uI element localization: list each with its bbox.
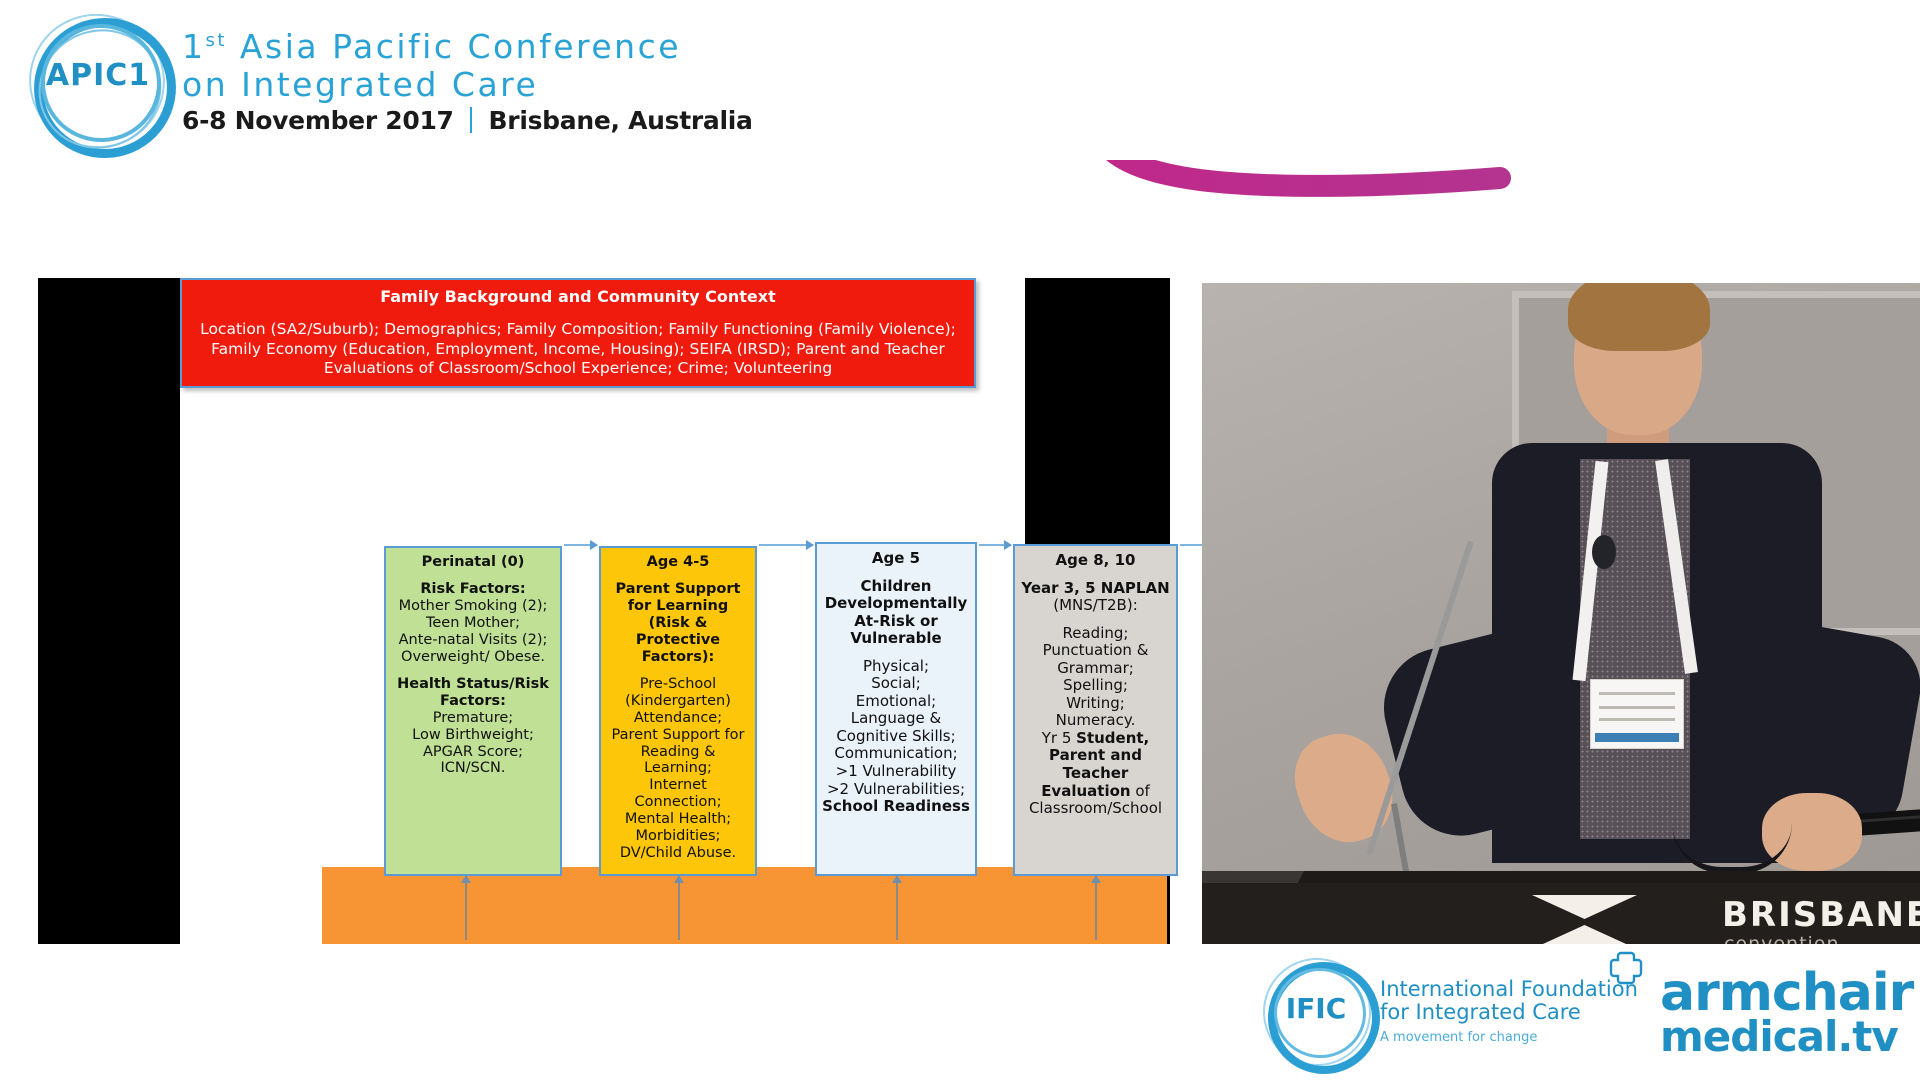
arrow-context-to-yellow bbox=[678, 882, 680, 940]
slide-orange-band bbox=[322, 867, 1167, 944]
conference-header: APIC1 1st Asia Pacific Conference on Int… bbox=[0, 0, 1920, 160]
microphone-head bbox=[1592, 535, 1616, 569]
box-green-subheading-1: Risk Factors: bbox=[391, 581, 555, 598]
ordinal-number: 1 bbox=[182, 27, 206, 66]
box-grey-body-2: Yr 5 Student, Parent and Teacher Evaluat… bbox=[1020, 730, 1171, 818]
ific-tagline: A movement for change bbox=[1380, 1030, 1537, 1045]
box-green-subheading-2: Health Status/Risk Factors: bbox=[391, 676, 555, 710]
podium-brand-text: BRISBANE bbox=[1722, 895, 1920, 935]
box-grey-body-2-prefix: Yr 5 bbox=[1042, 729, 1076, 747]
conference-location: Brisbane, Australia bbox=[489, 106, 753, 135]
box-grey-subheading-1: Year 3, 5 NAPLAN bbox=[1020, 580, 1171, 598]
box-grey-body-1: Reading;Punctuation &Grammar;Spelling;Wr… bbox=[1020, 625, 1171, 730]
armchair-line1: armchair bbox=[1660, 970, 1913, 1016]
box-green-body-2: Premature;Low Birthweight;APGAR Score;IC… bbox=[391, 710, 555, 778]
ific-logo: IFIC International Foundation for Integr… bbox=[1258, 956, 1568, 1066]
armchair-line2: medical.tv bbox=[1660, 1016, 1898, 1058]
apic-logo-text: APIC1 bbox=[28, 58, 168, 93]
badge-line-2 bbox=[1599, 706, 1675, 709]
conference-dates: 6-8 November 2017 bbox=[182, 106, 454, 135]
logo-shape-bottom bbox=[1532, 925, 1637, 944]
badge-blue-bar bbox=[1595, 733, 1679, 742]
badge-line-1 bbox=[1599, 692, 1675, 695]
box-blue-subheading-1: Children Developmentally At-Risk or Vuln… bbox=[822, 578, 970, 648]
box-grey-heading: Age 8, 10 bbox=[1020, 552, 1171, 570]
context-box-heading: Family Background and Community Context bbox=[182, 287, 974, 306]
speaker-video[interactable]: BRISBANE convention bbox=[1202, 283, 1920, 944]
apic-logo: APIC1 bbox=[28, 14, 168, 144]
header-divider bbox=[470, 107, 472, 133]
stage-box-age-8-10: Age 8, 10 Year 3, 5 NAPLAN (MNS/T2B): Re… bbox=[1013, 544, 1178, 876]
arrow-yellow-to-blue bbox=[759, 544, 813, 546]
box-blue-heading: Age 5 bbox=[822, 550, 970, 568]
context-box-body: Location (SA2/Suburb); Demographics; Fam… bbox=[182, 320, 974, 379]
stage-box-age-5: Age 5 Children Developmentally At-Risk o… bbox=[815, 542, 977, 876]
conference-title-line1: 1st Asia Pacific Conference bbox=[182, 22, 681, 66]
slide-canvas: Perinatal (0) Risk Factors: Mother Smoki… bbox=[180, 278, 1025, 944]
podium-brand-subtext: convention bbox=[1724, 933, 1839, 944]
box-yellow-heading: Age 4-5 bbox=[606, 554, 750, 571]
arrow-context-to-blue bbox=[896, 882, 898, 940]
arrow-green-to-yellow bbox=[564, 544, 597, 546]
arrow-blue-to-grey bbox=[979, 544, 1011, 546]
box-yellow-body-1: Pre-School(Kindergarten)Attendance;Paren… bbox=[606, 676, 750, 862]
speaker-name-badge bbox=[1590, 679, 1684, 749]
slide-area: Perinatal (0) Risk Factors: Mother Smoki… bbox=[38, 278, 1170, 944]
box-blue-body-2-bold: School Readiness bbox=[822, 798, 970, 816]
medical-cross-icon bbox=[1604, 950, 1648, 990]
family-context-box: Family Background and Community Context … bbox=[180, 278, 976, 388]
ordinal-suffix: st bbox=[206, 30, 227, 51]
conference-title-line1-rest: Asia Pacific Conference bbox=[227, 27, 681, 66]
box-grey-subheading-1b: (MNS/T2B): bbox=[1020, 597, 1171, 615]
stage-box-perinatal: Perinatal (0) Risk Factors: Mother Smoki… bbox=[384, 546, 562, 876]
speaker-hair bbox=[1568, 283, 1710, 351]
footer-logos: IFIC International Foundation for Integr… bbox=[0, 944, 1920, 1080]
logo-shape-top bbox=[1532, 895, 1637, 919]
conference-title: 1st Asia Pacific Conference on Integrate… bbox=[182, 22, 681, 104]
ific-mark-text: IFIC bbox=[1258, 992, 1374, 1025]
conference-title-line2: on Integrated Care bbox=[182, 66, 681, 104]
badge-line-3 bbox=[1599, 718, 1675, 721]
brisbane-convention-logo-icon bbox=[1532, 895, 1637, 944]
conference-subheader: 6-8 November 2017 Brisbane, Australia bbox=[182, 106, 753, 135]
arrow-context-to-green bbox=[465, 882, 467, 940]
box-green-heading: Perinatal (0) bbox=[391, 554, 555, 571]
stage-box-age-4-5: Age 4-5 Parent Support for Learning(Risk… bbox=[599, 546, 757, 876]
armchair-medical-logo: armchair medical.tv bbox=[1600, 948, 1900, 1073]
box-green-body-1: Mother Smoking (2);Teen Mother;Ante-nata… bbox=[391, 598, 555, 666]
box-blue-body-1: Physical;Social;Emotional;Language &Cogn… bbox=[822, 658, 970, 798]
box-yellow-subheading-1: Parent Support for Learning(Risk & Prote… bbox=[606, 581, 750, 666]
arrow-context-to-grey bbox=[1095, 882, 1097, 940]
